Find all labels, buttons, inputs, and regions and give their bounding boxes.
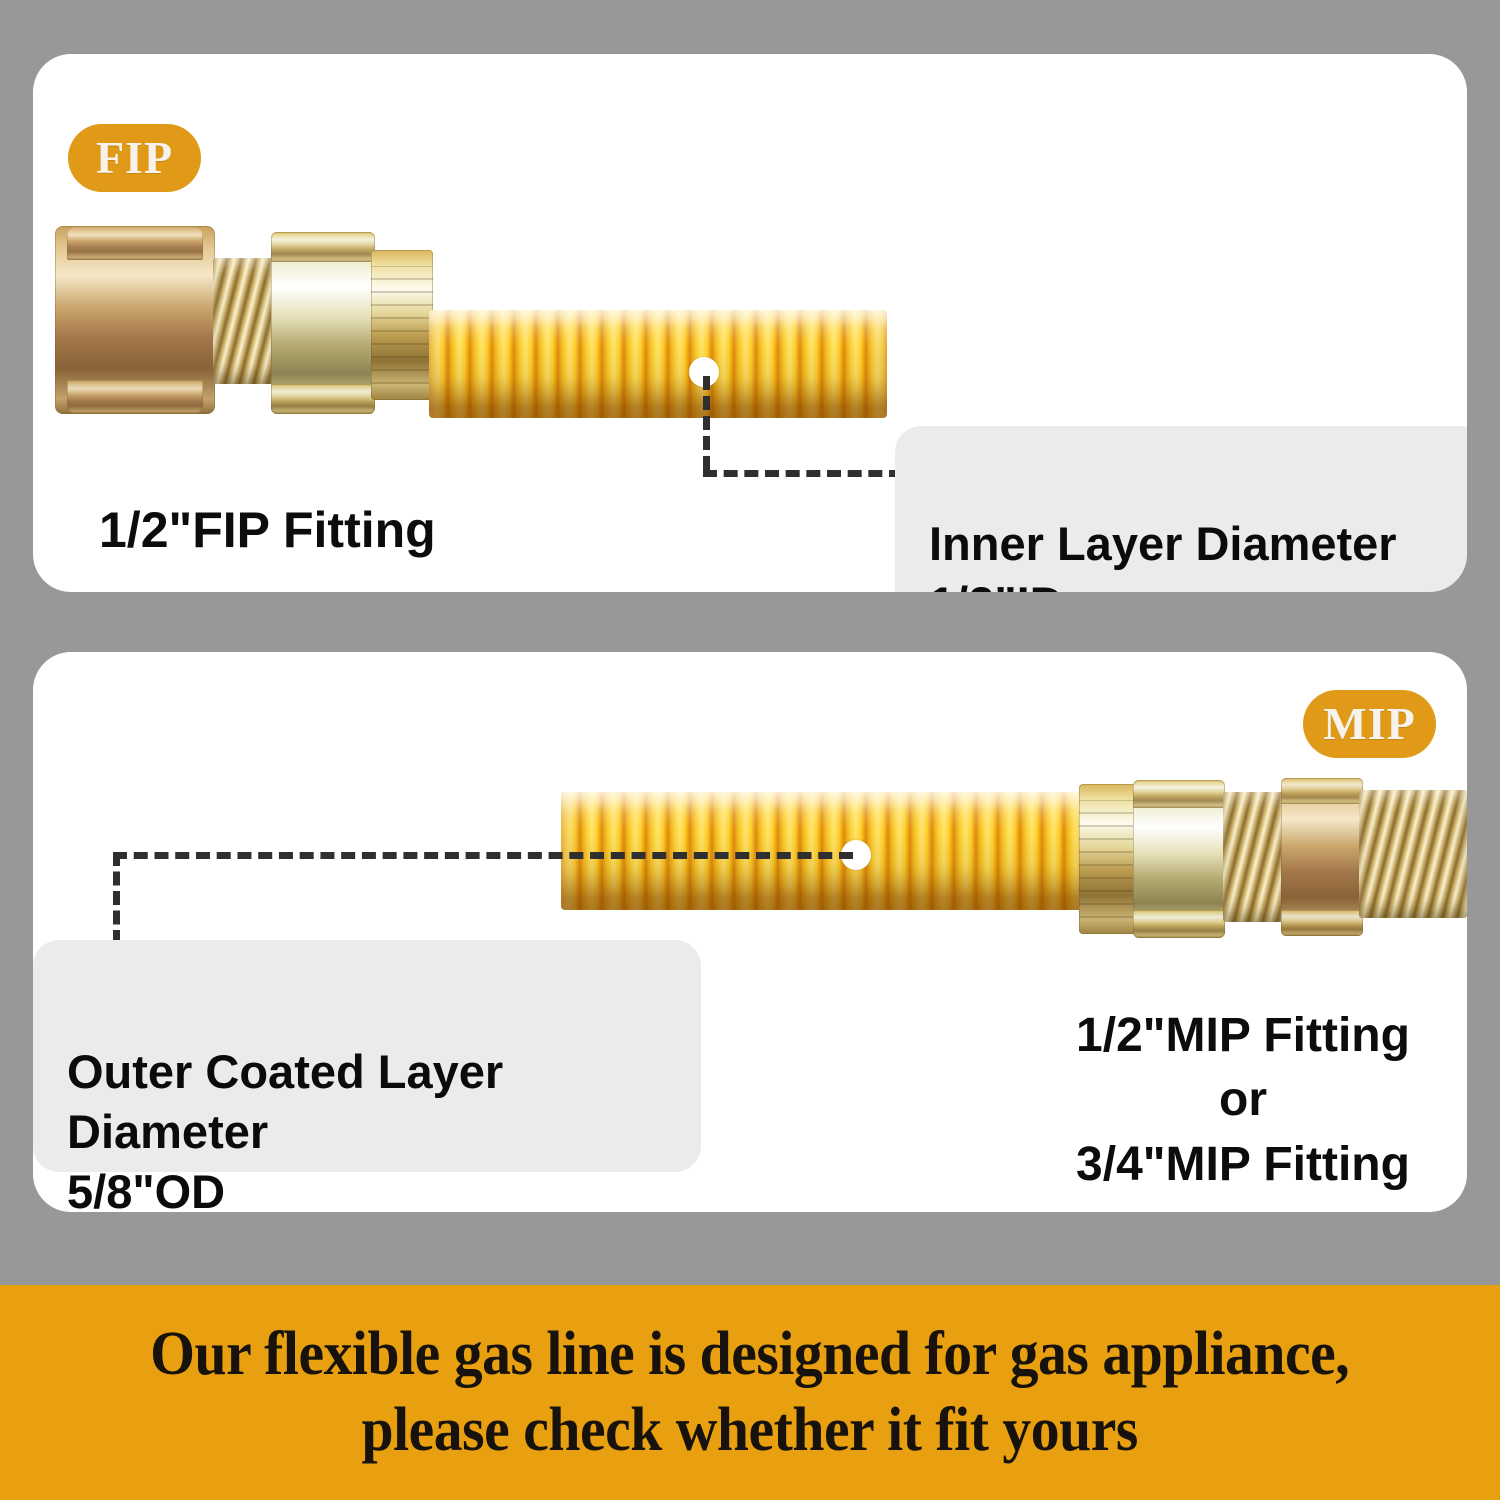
- fip-section-card: FIP Inner Layer Diameter 1/2"ID 1/2"FIP …: [33, 54, 1467, 592]
- mip-hex-body-1-top-facet: [1133, 780, 1225, 808]
- banner-text: Our flexible gas line is designed for ga…: [150, 1317, 1349, 1468]
- mip-thread-mid: [1223, 792, 1285, 922]
- fip-leader-horizontal: [703, 470, 903, 477]
- mip-leader-horizontal: [113, 852, 853, 859]
- fip-hex-nut-chamfer-bottom: [67, 380, 203, 414]
- inner-diameter-callout: Inner Layer Diameter 1/2"ID: [895, 426, 1467, 592]
- fip-corrugated-hose: [429, 310, 887, 418]
- fip-leader-vertical: [703, 376, 710, 470]
- mip-hex-body-2-bottom-facet: [1281, 910, 1363, 936]
- mip-hex-body-1-bottom-facet: [1133, 910, 1225, 938]
- infographic-stage: FIP Inner Layer Diameter 1/2"ID 1/2"FIP …: [0, 0, 1500, 1500]
- fip-collar-engraving: [371, 266, 433, 384]
- mip-badge-label: MIP: [1323, 701, 1415, 747]
- mip-section-card: MIP Outer Coated Layer Diameter 5/8"OD 1…: [33, 652, 1467, 1212]
- mip-hex-body-2-top-facet: [1281, 778, 1363, 804]
- mip-male-thread-end: [1359, 790, 1467, 918]
- inner-diameter-callout-text: Inner Layer Diameter 1/2"ID: [929, 517, 1397, 592]
- fip-fitting-label: 1/2"FIP Fitting: [99, 498, 436, 563]
- fip-badge-label: FIP: [96, 135, 173, 181]
- outer-diameter-callout-text: Outer Coated Layer Diameter 5/8"OD: [67, 1045, 503, 1212]
- fip-thread-neck: [213, 258, 275, 384]
- mip-collar-engraving: [1079, 800, 1137, 918]
- fip-hex-body-top-facet: [271, 232, 375, 262]
- mip-badge: MIP: [1303, 690, 1436, 758]
- mip-leader-vertical: [113, 852, 120, 944]
- fip-hex-nut-chamfer-top: [67, 226, 203, 260]
- fip-hex-body-bottom-facet: [271, 384, 375, 414]
- mip-fitting-label: 1/2"MIP Fitting or 3/4"MIP Fitting: [1033, 1004, 1453, 1197]
- mip-corrugated-hose: [561, 792, 1091, 910]
- fip-badge: FIP: [68, 124, 201, 192]
- bottom-banner: Our flexible gas line is designed for ga…: [0, 1285, 1500, 1500]
- fip-product-image: [33, 54, 1467, 454]
- outer-diameter-callout: Outer Coated Layer Diameter 5/8"OD: [33, 940, 701, 1172]
